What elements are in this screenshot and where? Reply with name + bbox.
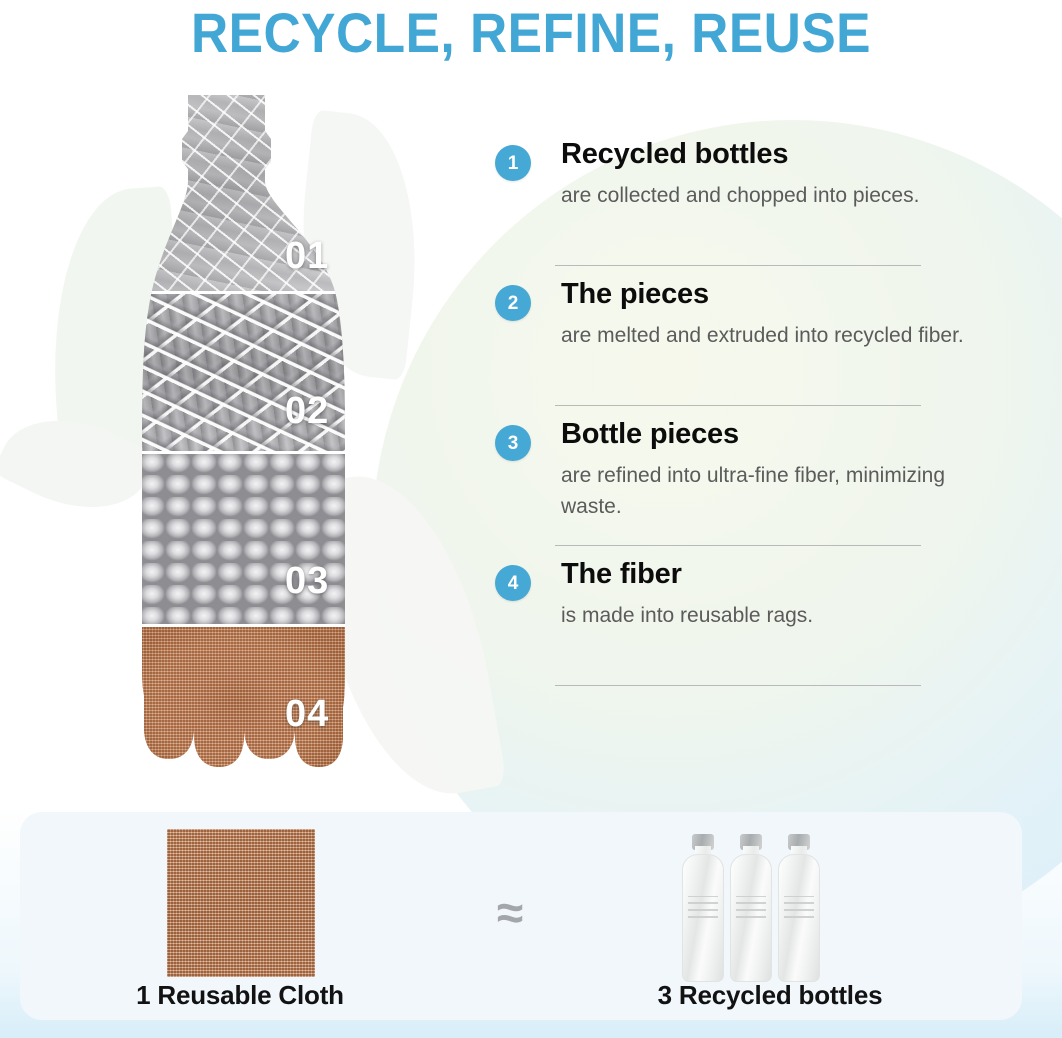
bottle-band-number: 03 [285, 560, 329, 603]
bottle-icon [682, 834, 724, 982]
comparison-right-label: 3 Recycled bottles [550, 980, 990, 1011]
step-title: Recycled bottles [561, 136, 965, 172]
bottle-band-number: 01 [285, 235, 329, 278]
band-divider [113, 291, 393, 294]
bottle-body [778, 854, 820, 982]
bottle-silhouette [113, 95, 393, 807]
step-number-badge: 4 [495, 565, 531, 601]
bottle-diagram: 01 02 03 04 [113, 95, 393, 807]
bottle-ribs [784, 896, 814, 918]
bottle-band-crushed-plastic [113, 95, 393, 291]
comparison-left-label: 1 Reusable Cloth [20, 980, 460, 1011]
step-description: are collected and chopped into pieces. [561, 180, 965, 211]
band-divider [113, 624, 393, 627]
step-item: 1 Recycled bottles are collected and cho… [495, 136, 965, 276]
step-divider [555, 265, 921, 266]
recycled-bottles-icon-group [680, 822, 840, 984]
bottle-ribs [736, 896, 766, 918]
page-title: RECYCLE, REFINE, REUSE [42, 2, 1019, 64]
step-item: 2 The pieces are melted and extruded int… [495, 276, 965, 416]
bottle-body [682, 854, 724, 982]
step-item: 3 Bottle pieces are refined into ultra-f… [495, 416, 965, 556]
comparison-content: ≈ [20, 812, 1022, 1020]
step-number-badge: 2 [495, 285, 531, 321]
step-divider [555, 685, 921, 686]
step-title: The pieces [561, 276, 965, 312]
bottle-body [730, 854, 772, 982]
bottle-icon [778, 834, 820, 982]
step-number-badge: 3 [495, 425, 531, 461]
bottle-band-extruded-fiber [113, 292, 393, 452]
step-description: are refined into ultra-fine fiber, minim… [561, 460, 965, 522]
step-title: Bottle pieces [561, 416, 965, 452]
band-divider [113, 451, 393, 454]
bottle-band-ultra-fine-fiber [113, 453, 393, 625]
approximately-equal-icon: ≈ [475, 890, 545, 938]
step-title: The fiber [561, 556, 965, 592]
step-description: is made into reusable rags. [561, 600, 965, 631]
bottle-ribs [688, 896, 718, 918]
steps-list: 1 Recycled bottles are collected and cho… [495, 136, 965, 696]
infographic-root: RECYCLE, REFINE, REUSE 01 02 03 04 1 Rec… [0, 0, 1062, 1038]
comparison-panel: ≈ [20, 812, 1022, 1020]
step-description: are melted and extruded into recycled fi… [561, 320, 965, 351]
step-divider [555, 405, 921, 406]
reusable-cloth-swatch-icon [167, 829, 315, 977]
step-number-badge: 1 [495, 145, 531, 181]
bottle-band-number: 04 [285, 693, 329, 736]
bottle-icon [730, 834, 772, 982]
bottle-band-number: 02 [285, 390, 329, 433]
bottle-band-woven-cloth [113, 626, 393, 807]
step-item: 4 The fiber is made into reusable rags. [495, 556, 965, 696]
step-divider [555, 545, 921, 546]
